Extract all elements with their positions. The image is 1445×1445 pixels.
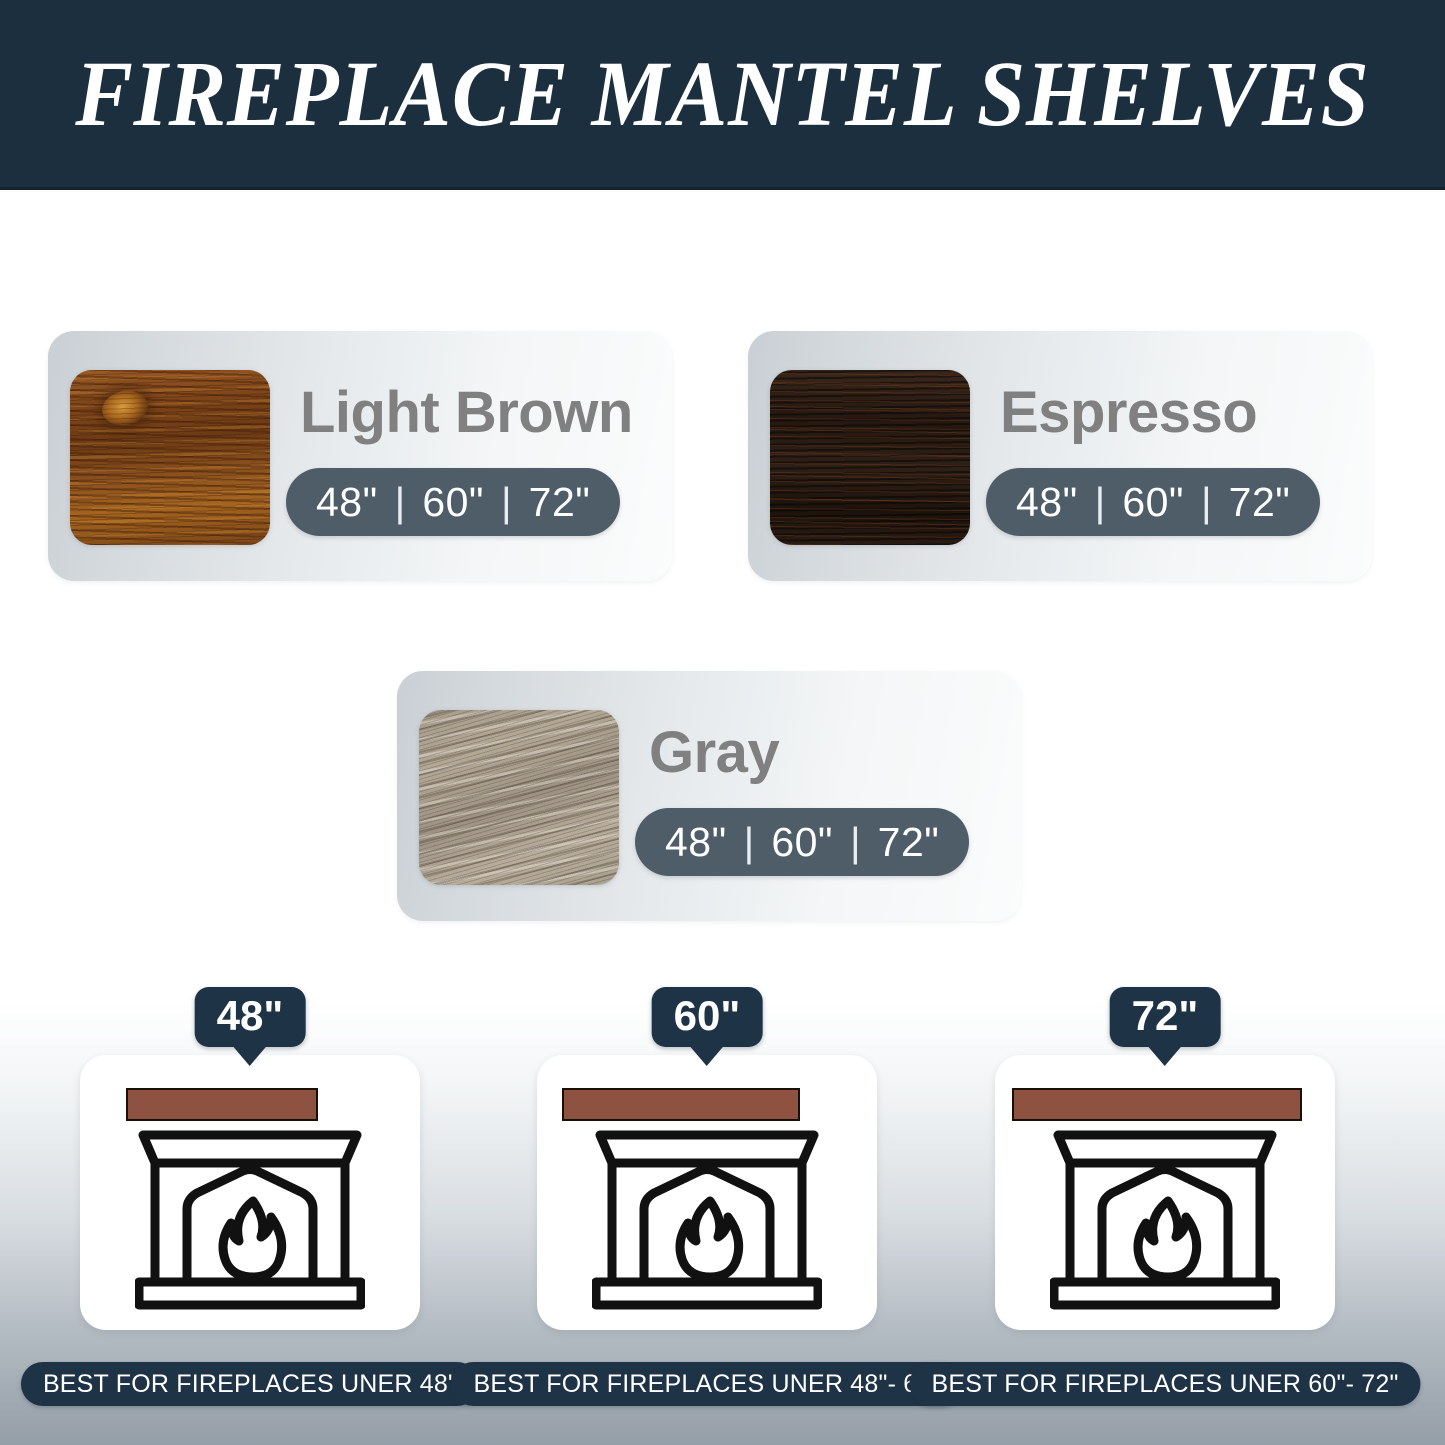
color-name-label: Gray [649, 709, 779, 795]
size-badge-label: 72" [1132, 995, 1199, 1037]
wood-texture [419, 710, 619, 885]
size-group-72[interactable]: 72" BEST FOR FIREPLACES UNER 60"- 72" [995, 1055, 1335, 1330]
size-caption: BEST FOR FIREPLACES UNER 48" [21, 1362, 479, 1406]
mantel-shelf-bar [126, 1088, 318, 1121]
separator-icon: | [1201, 479, 1212, 526]
size-caption-label: BEST FOR FIREPLACES UNER 48"- 60" [473, 1370, 940, 1399]
size-option: 48" [1016, 479, 1078, 526]
espresso-wood-swatch [770, 370, 970, 545]
size-caption-label: BEST FOR FIREPLACES UNER 60"- 72" [931, 1370, 1398, 1399]
color-card-light-brown[interactable]: Light Brown 48" | 60" | 72" [48, 331, 672, 581]
size-options-pill[interactable]: 48" | 60" | 72" [286, 468, 620, 536]
size-card[interactable]: 60" [537, 1055, 877, 1330]
fireplace-icon [995, 1055, 1335, 1330]
size-badge: 72" [1110, 987, 1221, 1047]
page-title: FIREPLACE MANTEL SHELVES [51, 0, 1395, 188]
fireplace-outline-icon [1050, 1127, 1280, 1312]
fireplace-icon [537, 1055, 877, 1330]
size-badge: 60" [652, 987, 763, 1047]
color-name-label: Espresso [1000, 369, 1257, 455]
size-caption: BEST FOR FIREPLACES UNER 48"- 60" [451, 1362, 962, 1406]
size-badge: 48" [195, 987, 306, 1047]
wood-texture [70, 370, 270, 545]
separator-icon: | [1095, 479, 1106, 526]
fireplace-icon [80, 1055, 420, 1330]
size-caption-label: BEST FOR FIREPLACES UNER 48" [43, 1370, 457, 1399]
separator-icon: | [395, 479, 406, 526]
size-option: 60" [1122, 479, 1184, 526]
gray-wood-swatch [419, 710, 619, 885]
fireplace-outline-icon [592, 1127, 822, 1312]
size-option: 60" [422, 479, 484, 526]
wood-texture [770, 370, 970, 545]
separator-icon: | [744, 819, 755, 866]
header-banner: FIREPLACE MANTEL SHELVES [0, 0, 1445, 190]
mantel-shelf-bar [562, 1088, 800, 1121]
fireplace-outline-icon [135, 1127, 365, 1312]
size-option: 72" [878, 819, 940, 866]
size-card[interactable]: 48" [80, 1055, 420, 1330]
size-option: 72" [1229, 479, 1291, 526]
separator-icon: | [501, 479, 512, 526]
size-card[interactable]: 72" [995, 1055, 1335, 1330]
size-option: 48" [316, 479, 378, 526]
color-name-label: Light Brown [300, 369, 633, 455]
size-caption: BEST FOR FIREPLACES UNER 60"- 72" [909, 1362, 1420, 1406]
size-option: 72" [529, 479, 591, 526]
separator-icon: | [850, 819, 861, 866]
size-options-pill[interactable]: 48" | 60" | 72" [986, 468, 1320, 536]
color-card-espresso[interactable]: Espresso 48" | 60" | 72" [748, 331, 1372, 581]
size-group-60[interactable]: 60" BEST FOR FIREPLACES UNER 48"- 60" [537, 1055, 877, 1330]
light-brown-wood-swatch [70, 370, 270, 545]
mantel-shelf-bar [1012, 1088, 1302, 1121]
size-option: 48" [665, 819, 727, 866]
size-badge-label: 48" [217, 995, 284, 1037]
color-card-gray[interactable]: Gray 48" | 60" | 72" [397, 671, 1021, 921]
size-option: 60" [771, 819, 833, 866]
size-badge-label: 60" [674, 995, 741, 1037]
infographic-canvas: FIREPLACE MANTEL SHELVES Light Brown 48"… [0, 0, 1445, 1445]
size-options-pill[interactable]: 48" | 60" | 72" [635, 808, 969, 876]
size-group-48[interactable]: 48" BEST FOR FIREPLACES UNER 48" [80, 1055, 420, 1330]
